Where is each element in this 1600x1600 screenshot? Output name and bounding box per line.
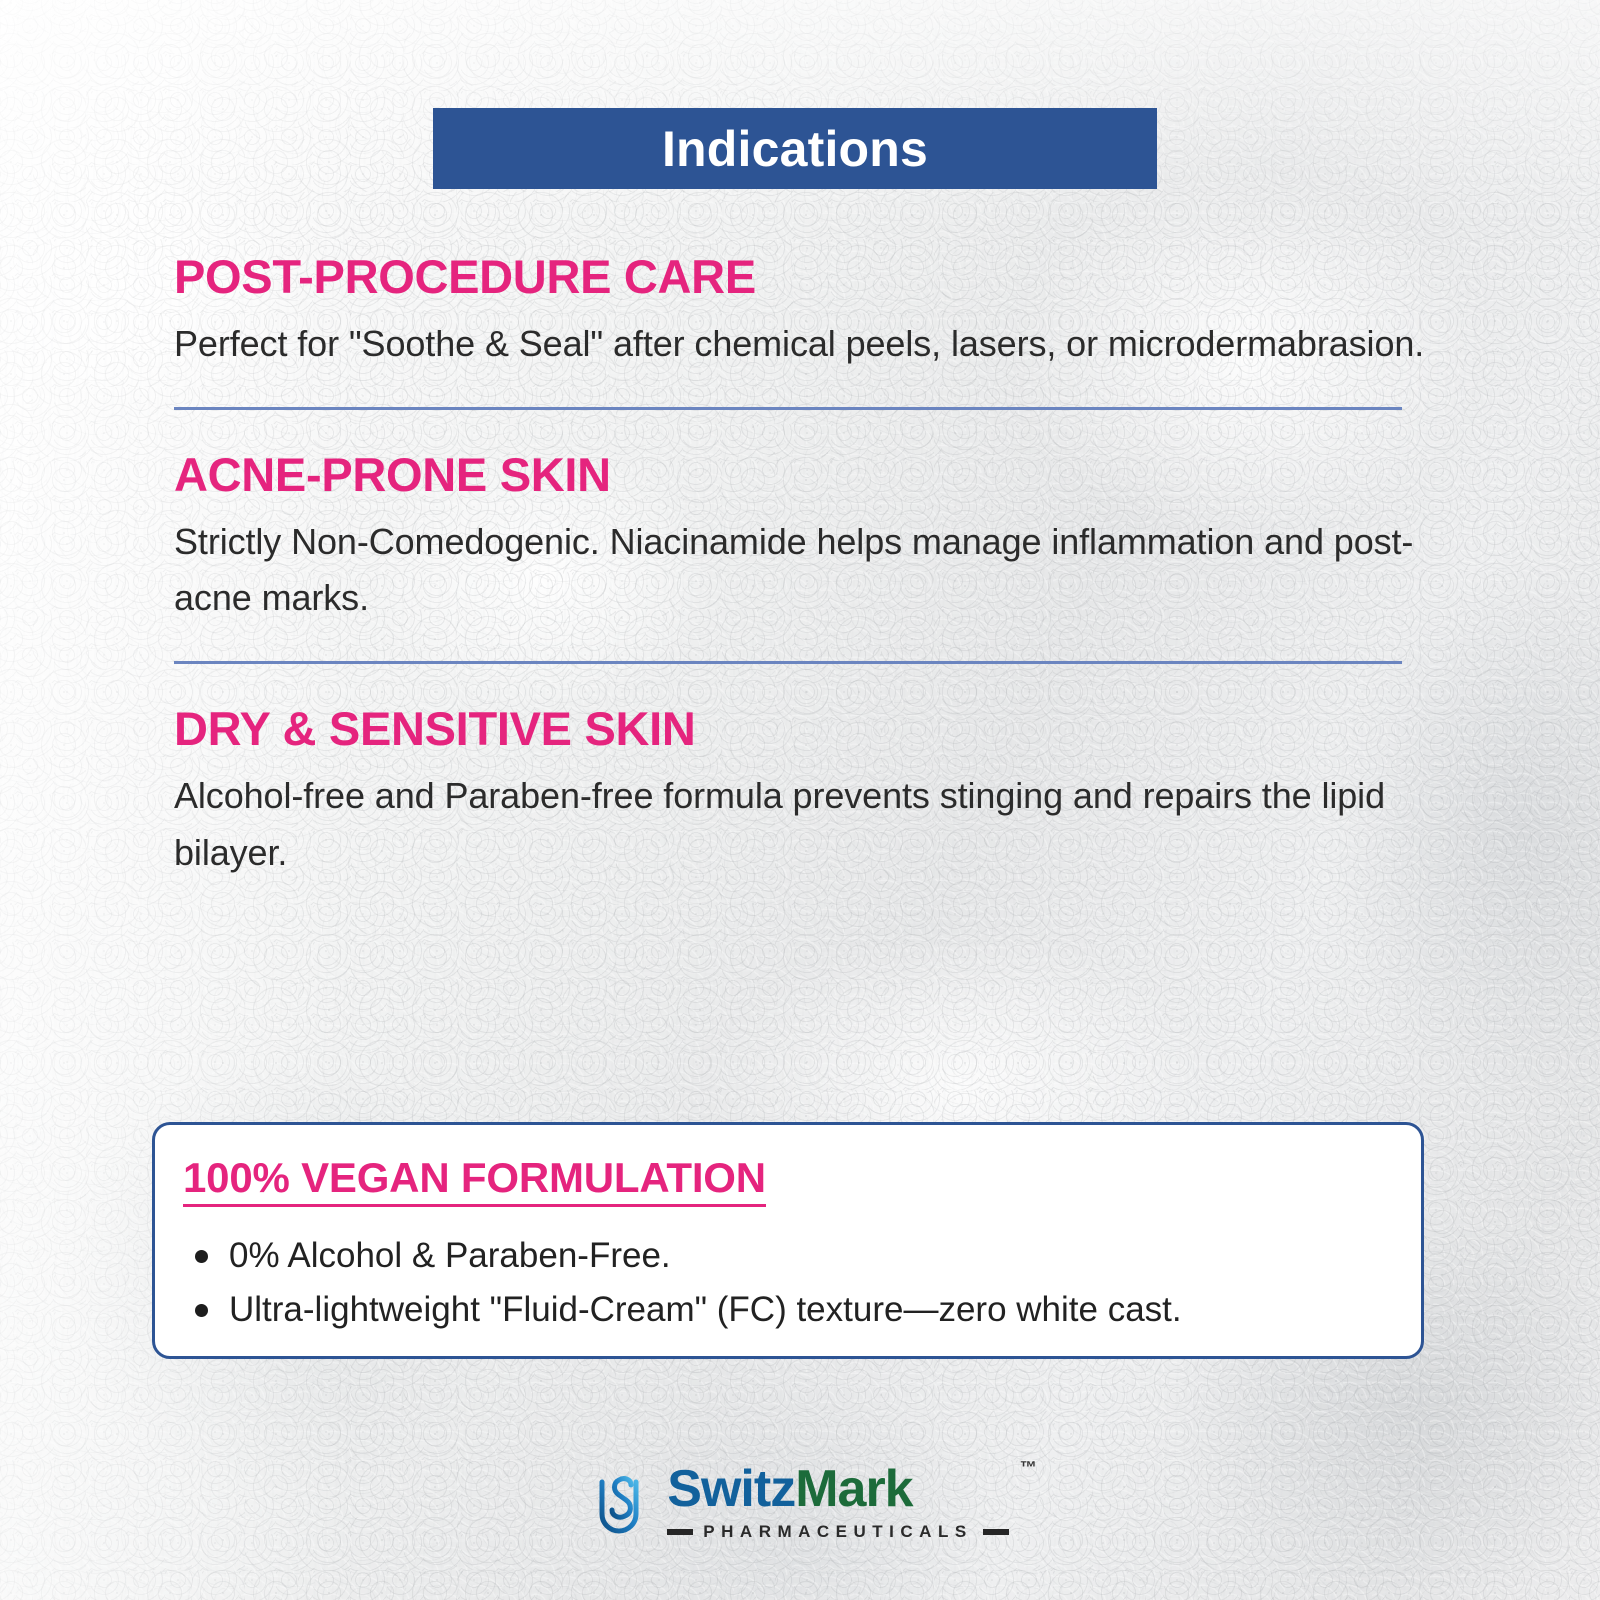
dash-left-icon xyxy=(667,1529,693,1535)
indication-title: DRY & SENSITIVE SKIN xyxy=(174,704,1426,754)
logo-subtitle: PHARMACEUTICALS xyxy=(703,1522,972,1542)
section-divider xyxy=(174,407,1402,410)
header-banner: Indications xyxy=(433,108,1157,189)
indications-poster: Indications POST-PROCEDURE CARE Perfect … xyxy=(0,0,1600,1600)
logo-word-mark: Mark xyxy=(795,1460,912,1518)
page-title: Indications xyxy=(662,124,928,174)
section-divider xyxy=(174,661,1402,664)
indication-title: ACNE-PRONE SKIN xyxy=(174,450,1426,500)
indication-section-acne-prone-skin: ACNE-PRONE SKIN Strictly Non-Comedogenic… xyxy=(174,450,1426,628)
bullet-point-icon xyxy=(195,1250,208,1263)
logo-word-row: SwitzMark ™ xyxy=(667,1463,1008,1515)
logo-wordmark: SwitzMark ™ PHARMACEUTICALS xyxy=(667,1463,1008,1542)
logo-word-switz: Switz xyxy=(667,1460,795,1518)
list-item-label: 0% Alcohol & Paraben-Free. xyxy=(229,1236,671,1275)
dash-right-icon xyxy=(983,1529,1009,1535)
indication-body: Alcohol-free and Paraben-free formula pr… xyxy=(174,768,1426,882)
indication-body: Strictly Non-Comedogenic. Niacinamide he… xyxy=(174,514,1426,628)
vegan-formulation-callout: 100% VEGAN FORMULATION 0% Alcohol & Para… xyxy=(152,1122,1424,1359)
callout-bullet-list: 0% Alcohol & Paraben-Free. Ultra-lightwe… xyxy=(183,1229,1421,1335)
poster-content: Indications POST-PROCEDURE CARE Perfect … xyxy=(0,0,1600,1600)
callout-title: 100% VEGAN FORMULATION xyxy=(183,1155,766,1207)
bullet-point-icon xyxy=(195,1304,208,1317)
list-item: Ultra-lightweight "Fluid-Cream" (FC) tex… xyxy=(183,1283,1421,1336)
indication-section-dry-sensitive-skin: DRY & SENSITIVE SKIN Alcohol-free and Pa… xyxy=(174,704,1426,882)
brand-logo: SwitzMark ™ PHARMACEUTICALS xyxy=(0,1463,1600,1542)
indication-title: POST-PROCEDURE CARE xyxy=(174,252,1426,302)
indications-list: POST-PROCEDURE CARE Perfect for "Soothe … xyxy=(174,252,1426,882)
list-item-label: Ultra-lightweight "Fluid-Cream" (FC) tex… xyxy=(229,1290,1182,1329)
logo-inner: SwitzMark ™ PHARMACEUTICALS xyxy=(591,1463,1008,1542)
trademark-icon: ™ xyxy=(1020,1459,1037,1476)
list-item: 0% Alcohol & Paraben-Free. xyxy=(183,1229,1421,1282)
sm-monogram-leaf-icon xyxy=(591,1468,653,1538)
logo-subtitle-row: PHARMACEUTICALS xyxy=(667,1522,1008,1542)
indication-section-post-procedure-care: POST-PROCEDURE CARE Perfect for "Soothe … xyxy=(174,252,1426,373)
indication-body: Perfect for "Soothe & Seal" after chemic… xyxy=(174,316,1426,373)
